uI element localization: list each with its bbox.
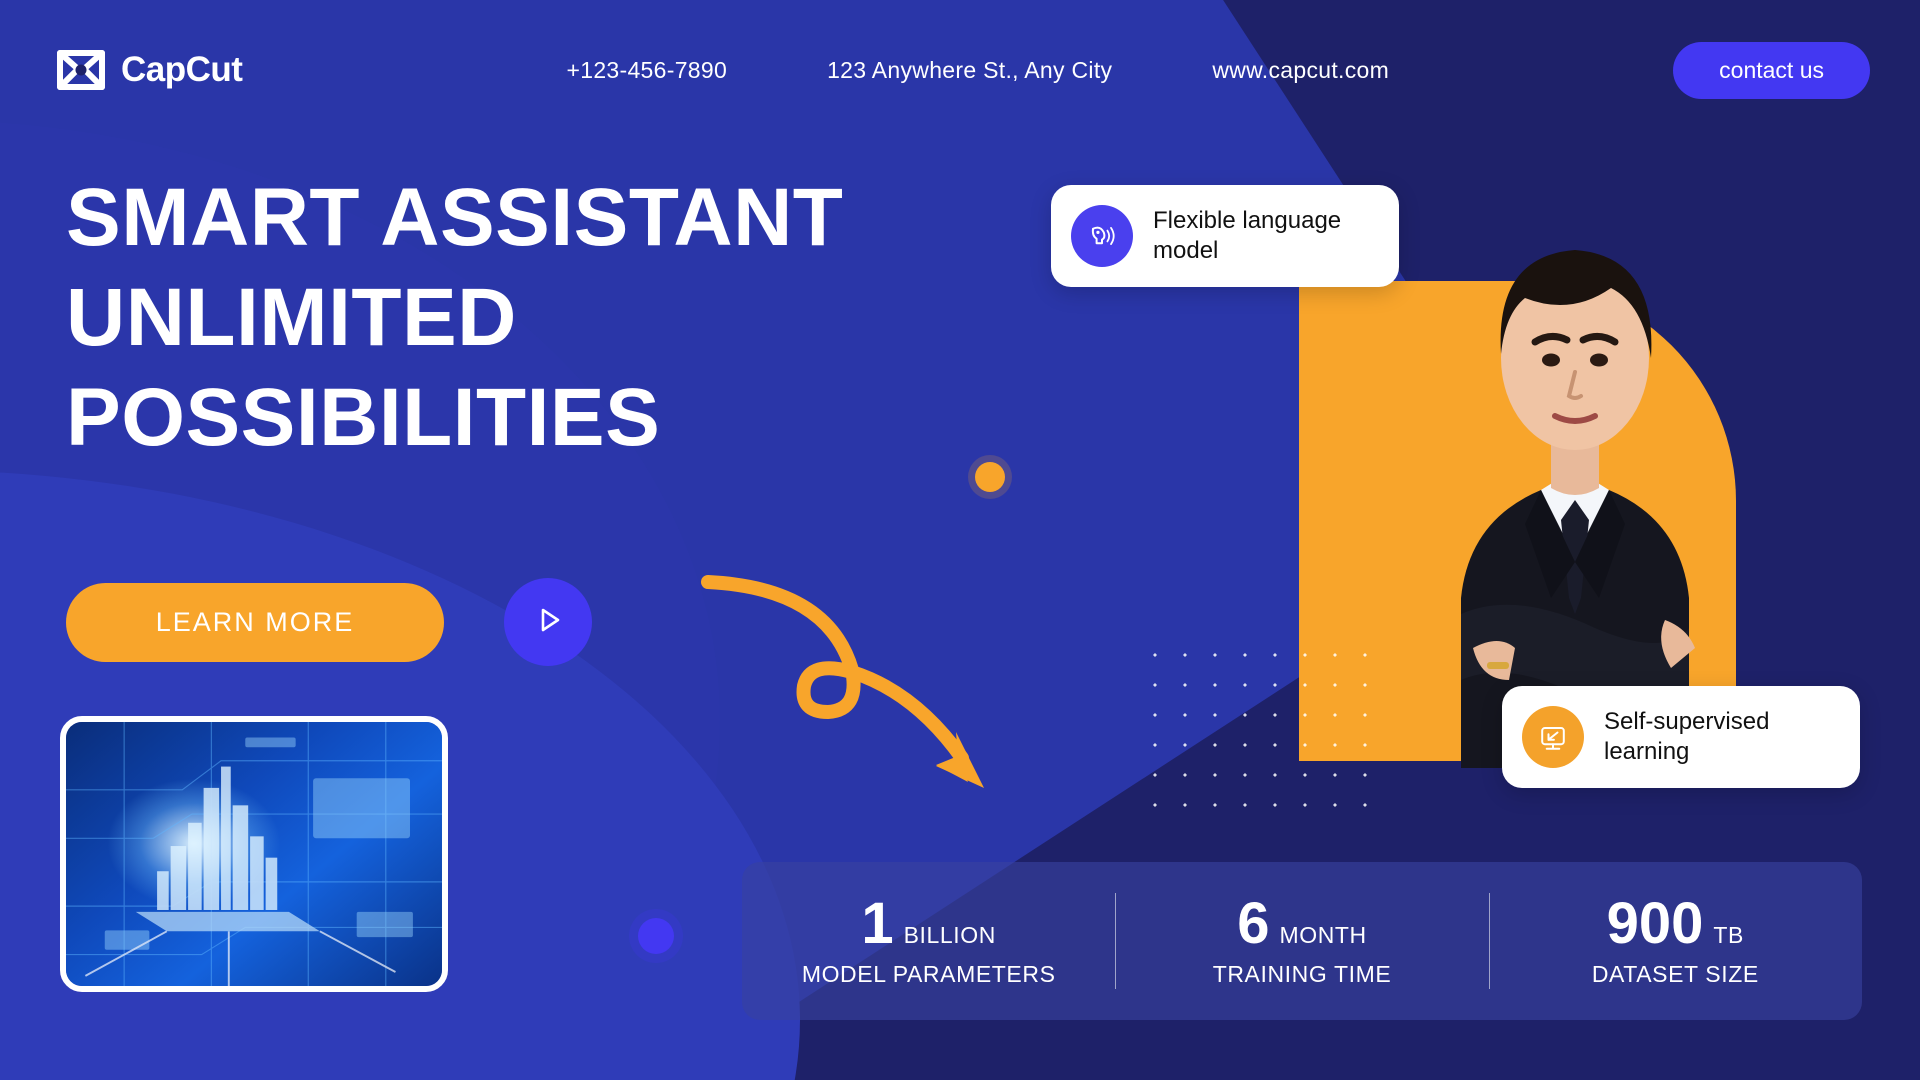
stats-panel: 1 BILLION MODEL PARAMETERS 6 MONTH TRAIN… [742,862,1862,1020]
decorative-dot-grid [1140,640,1380,820]
businessman-photo [1365,128,1785,768]
feature-card-self-supervised-label: Self-supervised learning [1604,707,1834,767]
feature-card-language-label: Flexible language model [1153,206,1373,266]
speaking-face-icon [1071,205,1133,267]
header-phone[interactable]: +123-456-7890 [567,57,728,84]
stat-unit: MONTH [1279,922,1366,949]
stat-label: DATASET SIZE [1489,961,1862,988]
play-button[interactable] [504,578,592,666]
poster-canvas: CapCut +123-456-7890 123 Anywhere St., A… [0,0,1920,1080]
stat-item-model-parameters: 1 BILLION MODEL PARAMETERS [742,895,1115,988]
stat-value-row: 1 BILLION [742,895,1115,953]
stat-unit: BILLION [904,922,996,949]
brand-logo[interactable]: CapCut [55,48,242,92]
stat-value: 900 [1607,895,1704,953]
play-triangle-icon [528,600,568,645]
header-contact-info: +123-456-7890 123 Anywhere St., Any City… [242,57,1673,84]
stat-unit: TB [1713,922,1744,949]
headline-line-2: UNLIMITED [66,268,843,368]
monitor-arrow-icon [1522,706,1584,768]
contact-us-button[interactable]: contact us [1673,42,1870,99]
stat-value-row: 6 MONTH [1115,895,1488,953]
hero-cta-row: LEARN MORE [66,578,592,666]
stat-value: 1 [861,895,893,953]
header-website[interactable]: www.capcut.com [1212,57,1389,84]
stat-label: TRAINING TIME [1115,961,1488,988]
page-header: CapCut +123-456-7890 123 Anywhere St., A… [0,0,1920,140]
decorative-dot-blue [638,918,674,954]
circuit-city-thumbnail[interactable] [60,716,448,992]
header-address[interactable]: 123 Anywhere St., Any City [827,57,1112,84]
stat-label: MODEL PARAMETERS [742,961,1115,988]
hero-headline: SMART ASSISTANT UNLIMITED POSSIBILITIES [66,168,843,468]
headline-line-1: SMART ASSISTANT [66,168,843,268]
learn-more-button[interactable]: LEARN MORE [66,583,444,662]
thumbnail-image [66,722,442,986]
stat-value-row: 900 TB [1489,895,1862,953]
feature-card-language[interactable]: Flexible language model [1051,185,1399,287]
decorative-dot-orange [975,462,1005,492]
stat-value: 6 [1237,895,1269,953]
stat-item-training-time: 6 MONTH TRAINING TIME [1115,895,1488,988]
stat-item-dataset-size: 900 TB DATASET SIZE [1489,895,1862,988]
feature-card-self-supervised[interactable]: Self-supervised learning [1502,686,1860,788]
brand-name: CapCut [121,50,242,90]
headline-line-3: POSSIBILITIES [66,368,843,468]
curved-arrow-icon [700,560,1020,815]
capcut-logo-icon [55,48,107,92]
